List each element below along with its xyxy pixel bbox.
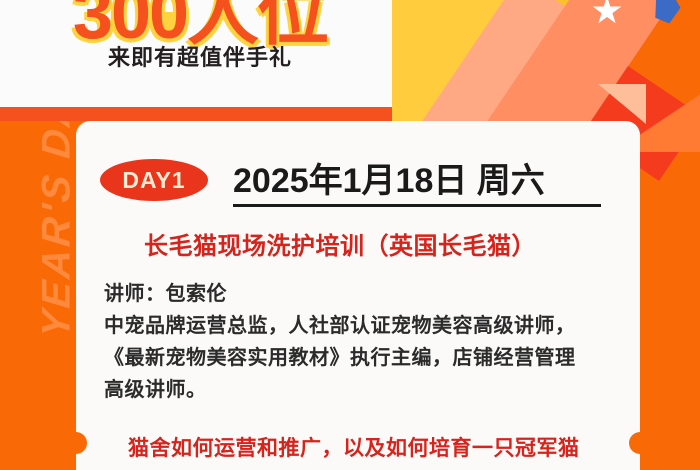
session-highlight: 猫舍如何运营和推广，以及如何培育一只冠军猫 [128,432,580,462]
schedule-date: 2025年1月18日 周六 [233,153,545,202]
bio-line: 高级讲师。 [104,374,616,406]
schedule-date-row: DAY1 2025年1月18日 周六 [100,155,600,207]
event-poster: YEAR'S DAY 300人位 来即有超值伴手礼 DAY1 2025年1月18… [0,0,700,470]
instructor-bio: 讲师：包索伦 中宠品牌运营总监，人社部认证宠物美容高级讲师， 《最新宠物美容实用… [104,278,616,406]
promo-strip: 300人位 来即有超值伴手礼 [0,0,392,107]
bio-line: 中宠品牌运营总监，人社部认证宠物美容高级讲师， [104,310,616,342]
card-notch-left [65,432,87,454]
promo-subline: 来即有超值伴手礼 [30,40,370,72]
card-notch-right [629,432,651,454]
bio-line: 《最新宠物美容实用教材》执行主编，店铺经营管理 [104,342,616,374]
date-underline [233,204,601,207]
day-badge: DAY1 [100,159,208,201]
promo-strip-divider [0,107,392,121]
session-title: 长毛猫现场洗护培训（英国长毛猫） [144,226,536,261]
bio-line: 讲师：包索伦 [104,278,616,310]
